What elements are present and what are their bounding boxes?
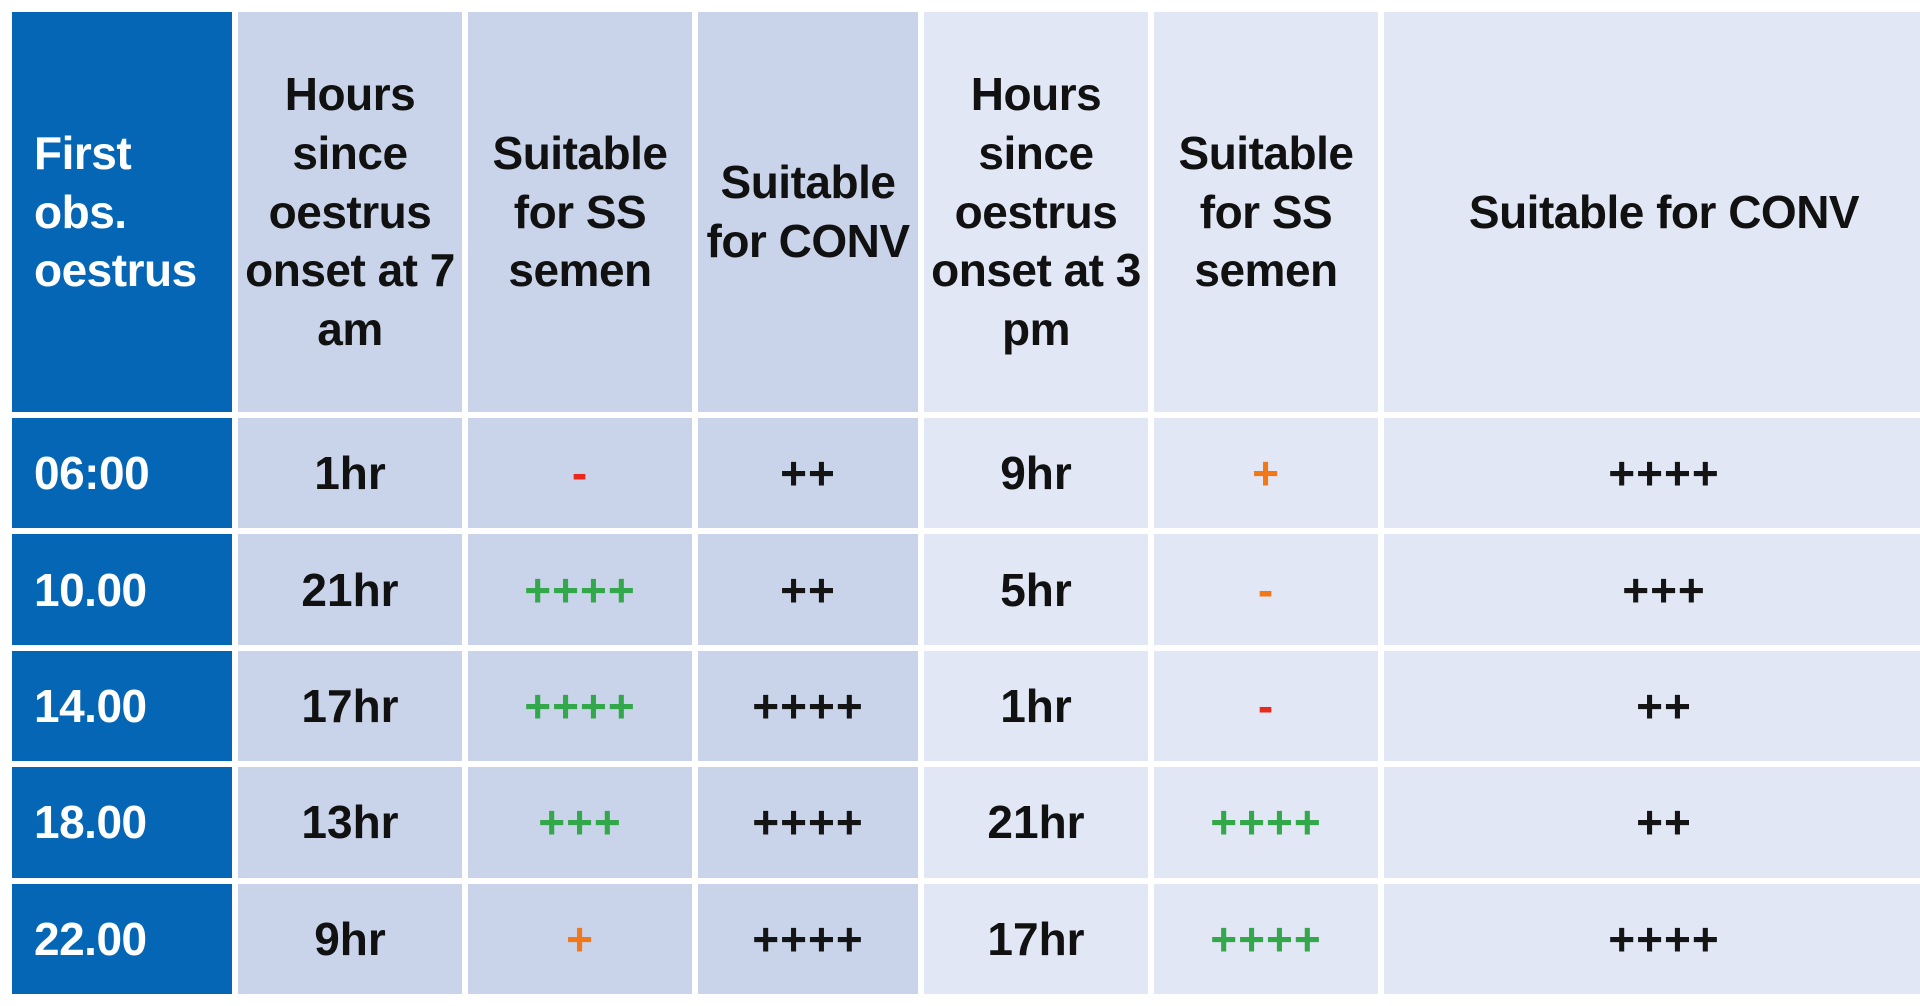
- cell-ss-3pm: +: [1154, 418, 1378, 528]
- rating-symbol: ++++: [752, 795, 863, 849]
- table-row: 18.00 13hr +++ ++++ 21hr ++++ ++: [12, 767, 1920, 877]
- cell-hours-3pm: 5hr: [924, 534, 1148, 644]
- row-header-first-obs: 10.00: [12, 534, 232, 644]
- cell-ss-7am: -: [468, 418, 692, 528]
- table-row: 14.00 17hr ++++ ++++ 1hr - ++: [12, 651, 1920, 761]
- row-header-first-obs: 18.00: [12, 767, 232, 877]
- cell-conv-3pm: +++: [1384, 534, 1920, 644]
- cell-hours-7am: 13hr: [238, 767, 462, 877]
- cell-hours-7am: 1hr: [238, 418, 462, 528]
- cell-ss-7am: ++++: [468, 534, 692, 644]
- row-header-first-obs: 14.00: [12, 651, 232, 761]
- cell-ss-3pm: -: [1154, 651, 1378, 761]
- cell-conv-7am: ++++: [698, 884, 918, 994]
- cell-ss-3pm: -: [1154, 534, 1378, 644]
- row-header-first-obs: 06:00: [12, 418, 232, 528]
- oestrus-timing-table-container: First obs. oestrus Hours since oestrus o…: [0, 0, 1920, 1006]
- cell-hours-7am: 9hr: [238, 884, 462, 994]
- cell-conv-7am: ++++: [698, 767, 918, 877]
- rating-symbol: ++: [780, 446, 836, 500]
- column-header-suitable-ss-semen-3pm: Suitable for SS semen: [1154, 12, 1378, 412]
- column-header-hours-since-onset-7am: Hours since oestrus onset at 7 am: [238, 12, 462, 412]
- oestrus-timing-table: First obs. oestrus Hours since oestrus o…: [6, 6, 1920, 1000]
- header-row: First obs. oestrus Hours since oestrus o…: [12, 12, 1920, 412]
- column-header-suitable-conv-3pm: Suitable for CONV: [1384, 12, 1920, 412]
- column-header-suitable-ss-semen-7am: Suitable for SS semen: [468, 12, 692, 412]
- cell-hours-3pm: 17hr: [924, 884, 1148, 994]
- rating-symbol: ++++: [524, 563, 635, 617]
- row-header-first-obs: 22.00: [12, 884, 232, 994]
- rating-symbol: ++++: [1608, 446, 1719, 500]
- cell-conv-7am: ++: [698, 418, 918, 528]
- cell-hours-3pm: 1hr: [924, 651, 1148, 761]
- rating-symbol: -: [1258, 563, 1274, 617]
- cell-hours-7am: 17hr: [238, 651, 462, 761]
- rating-symbol: +: [566, 912, 594, 966]
- column-header-hours-since-onset-3pm: Hours since oestrus onset at 3 pm: [924, 12, 1148, 412]
- rating-symbol: ++: [780, 563, 836, 617]
- cell-ss-3pm: ++++: [1154, 767, 1378, 877]
- table-header: First obs. oestrus Hours since oestrus o…: [12, 12, 1920, 412]
- table-row: 06:00 1hr - ++ 9hr + ++++: [12, 418, 1920, 528]
- cell-ss-7am: +++: [468, 767, 692, 877]
- table-row: 22.00 9hr + ++++ 17hr ++++ ++++: [12, 884, 1920, 994]
- cell-conv-3pm: ++: [1384, 767, 1920, 877]
- cell-conv-7am: ++++: [698, 651, 918, 761]
- rating-symbol: +: [1252, 446, 1280, 500]
- rating-symbol: +++: [1622, 563, 1706, 617]
- table-body: 06:00 1hr - ++ 9hr + ++++ 10.00 21hr: [12, 418, 1920, 994]
- cell-conv-7am: ++: [698, 534, 918, 644]
- cell-ss-7am: +: [468, 884, 692, 994]
- rating-symbol: -: [572, 446, 588, 500]
- rating-symbol: ++++: [1608, 912, 1719, 966]
- rating-symbol: +++: [538, 795, 622, 849]
- rating-symbol: ++++: [1210, 912, 1321, 966]
- cell-conv-3pm: ++++: [1384, 418, 1920, 528]
- cell-hours-3pm: 9hr: [924, 418, 1148, 528]
- cell-ss-7am: ++++: [468, 651, 692, 761]
- rating-symbol: ++: [1636, 679, 1692, 733]
- cell-hours-7am: 21hr: [238, 534, 462, 644]
- rating-symbol: ++++: [752, 679, 863, 733]
- cell-conv-3pm: ++++: [1384, 884, 1920, 994]
- rating-symbol: ++: [1636, 795, 1692, 849]
- table-row: 10.00 21hr ++++ ++ 5hr - +++: [12, 534, 1920, 644]
- cell-hours-3pm: 21hr: [924, 767, 1148, 877]
- cell-ss-3pm: ++++: [1154, 884, 1378, 994]
- cell-conv-3pm: ++: [1384, 651, 1920, 761]
- column-header-suitable-conv-7am: Suitable for CONV: [698, 12, 918, 412]
- rating-symbol: ++++: [524, 679, 635, 733]
- rating-symbol: ++++: [1210, 795, 1321, 849]
- rating-symbol: -: [1258, 679, 1274, 733]
- rating-symbol: ++++: [752, 912, 863, 966]
- column-header-first-obs-oestrus: First obs. oestrus: [12, 12, 232, 412]
